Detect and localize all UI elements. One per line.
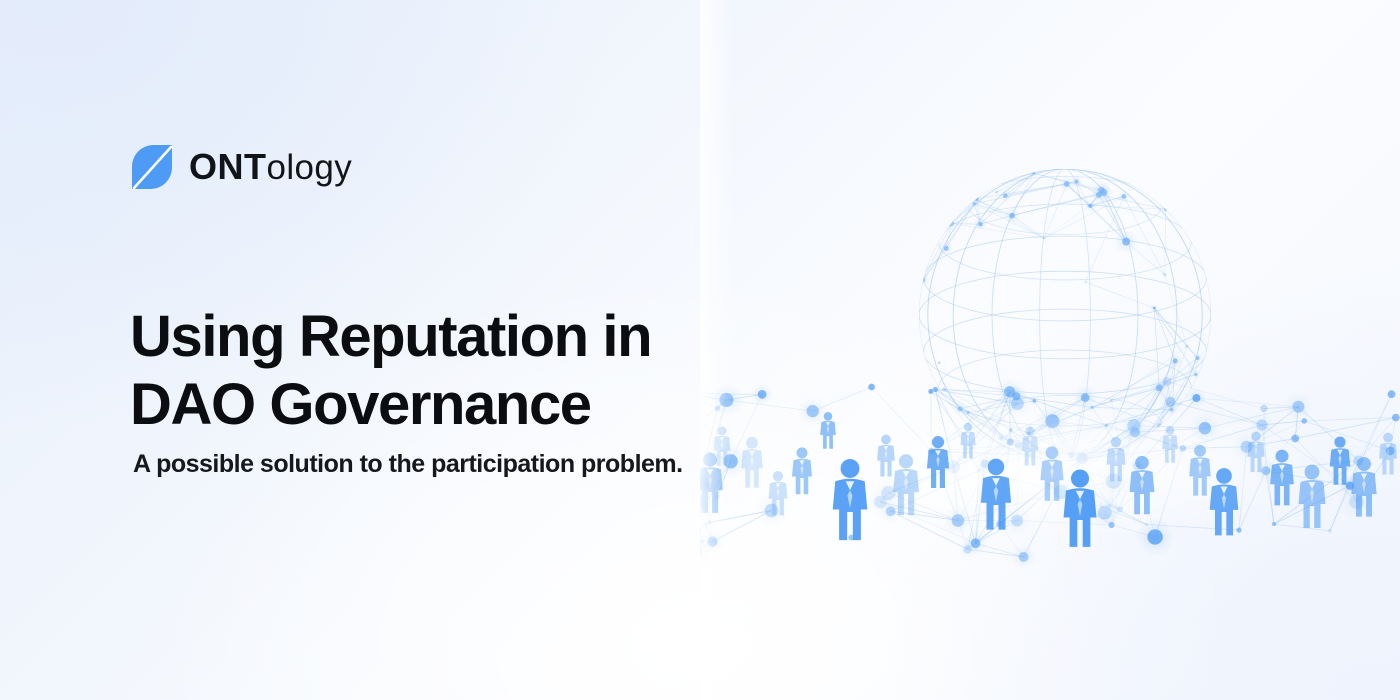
- person-figure: [1351, 457, 1376, 517]
- person-figure: [1022, 426, 1039, 465]
- people-crowd: [700, 412, 1397, 547]
- person-figure: [1040, 446, 1063, 501]
- person-figure: [981, 459, 1011, 530]
- person-figure: [1379, 433, 1397, 475]
- person-figure: [1189, 445, 1211, 496]
- person-figure: [877, 435, 895, 477]
- network-mesh: [700, 370, 1400, 570]
- person-figure: [1162, 426, 1178, 463]
- banner-root: ONT ology Using Reputation in DAO Govern…: [0, 0, 1400, 700]
- person-figure: [893, 454, 919, 515]
- person-figure: [769, 471, 788, 515]
- person-figure: [700, 453, 723, 513]
- person-figure: [820, 412, 836, 449]
- person-figure: [1330, 437, 1351, 485]
- headline-line-1: Using Reputation in: [130, 303, 651, 371]
- ontology-logo[interactable]: ONT ology: [130, 143, 352, 191]
- page-subtitle: A possible solution to the participation…: [133, 450, 683, 479]
- page-title: Using Reputation in DAO Governance: [130, 303, 651, 439]
- person-figure: [1247, 432, 1264, 473]
- person-figure: [960, 423, 975, 459]
- ontology-leaf-mark-icon: [130, 143, 174, 191]
- network-svg: [700, 0, 1400, 700]
- wordmark-ont: ONT: [189, 149, 267, 185]
- person-figure: [1270, 450, 1294, 506]
- wireframe-globe: [917, 169, 1211, 465]
- headline-line-2: DAO Governance: [130, 371, 651, 439]
- person-figure: [1210, 468, 1239, 535]
- person-figure: [1299, 465, 1326, 528]
- person-figure: [792, 447, 812, 494]
- ontology-wordmark: ONT ology: [189, 149, 352, 185]
- person-figure: [927, 436, 949, 488]
- person-figure: [714, 426, 731, 465]
- person-figure: [1130, 456, 1155, 514]
- person-figure: [741, 437, 763, 488]
- person-figure: [1107, 437, 1126, 481]
- person-figure: [1064, 469, 1097, 546]
- global-network-crowd-illustration: [700, 0, 1400, 700]
- wordmark-ology: ology: [267, 150, 353, 185]
- person-figure: [833, 459, 868, 540]
